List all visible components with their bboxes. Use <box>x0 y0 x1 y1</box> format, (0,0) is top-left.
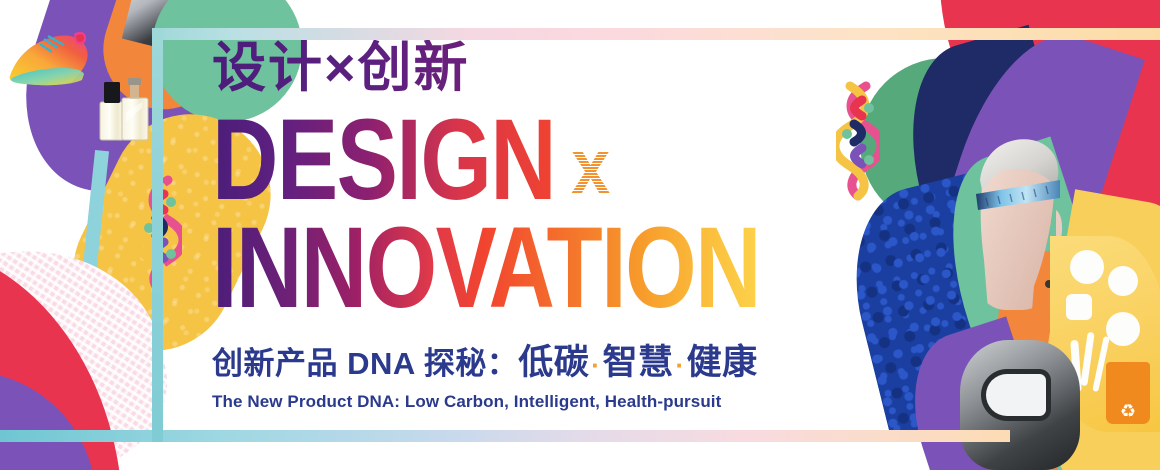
sneaker-icon <box>4 18 96 92</box>
banner-text-block: 设计×创新 DESIGN x INNOVATION 创新产品 DNA 探秘：低碳… <box>212 40 912 412</box>
plate-icon <box>1070 250 1104 284</box>
fork-icon <box>1080 332 1094 386</box>
recycling-bin-icon <box>1106 362 1150 424</box>
frame-bar-left <box>152 28 163 442</box>
subtitle-keyword-low-carbon: 低碳 <box>518 343 589 382</box>
subtitle-dot-2: · <box>673 350 686 380</box>
subtitle-keyword-health: 健康 <box>687 343 758 382</box>
headline-innovation: INNOVATION <box>212 211 760 326</box>
bowl-icon <box>1108 266 1138 296</box>
subtitle-keyword-intelligent: 智慧 <box>602 343 673 382</box>
perfume-bottles-icon <box>96 72 154 144</box>
headline-line-1: DESIGN x <box>212 103 912 215</box>
sneaker-product-photo <box>4 18 96 92</box>
headline-x-mark: x <box>571 127 610 205</box>
english-subtitle: The New Product DNA: Low Carbon, Intelli… <box>212 392 912 412</box>
headline-line-2: INNOVATION <box>212 215 912 326</box>
container-icon <box>1066 294 1092 320</box>
chinese-subtitle: 创新产品 DNA 探秘：低碳·智慧·健康 <box>212 334 912 385</box>
ev-charging-plug-photo <box>960 340 1080 470</box>
subtitle-dot-1: · <box>589 350 602 380</box>
headline-design: DESIGN <box>212 103 555 218</box>
lid-icon <box>1106 312 1140 346</box>
chinese-title: 设计×创新 <box>212 40 912 97</box>
perfume-product-photo <box>96 72 154 144</box>
subtitle-prefix: 创新产品 DNA 探秘： <box>212 346 518 381</box>
design-innovation-banner: 设计×创新 DESIGN x INNOVATION 创新产品 DNA 探秘：低碳… <box>0 0 1160 470</box>
